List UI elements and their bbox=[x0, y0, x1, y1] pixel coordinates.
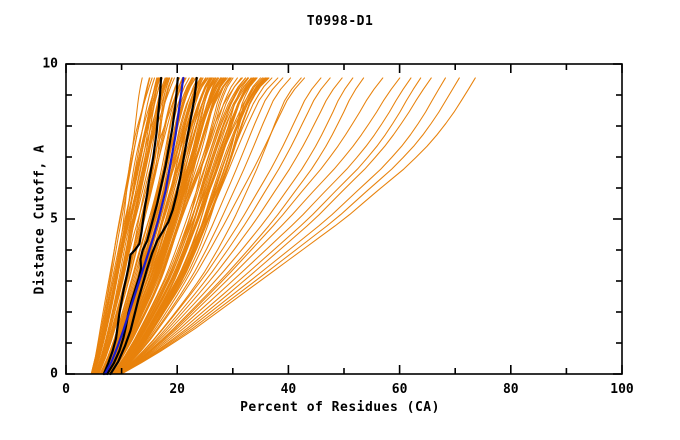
y-tick-label: 0 bbox=[32, 367, 58, 382]
chart-figure: T0998-D1 Distance Cutoff, A Percent of R… bbox=[0, 0, 680, 440]
x-tick-label: 80 bbox=[503, 382, 519, 397]
x-tick-label: 40 bbox=[281, 382, 297, 397]
y-tick-label: 10 bbox=[32, 57, 58, 72]
y-tick-label: 5 bbox=[32, 212, 58, 227]
plot-canvas bbox=[0, 0, 680, 440]
x-axis-label: Percent of Residues (CA) bbox=[0, 400, 680, 415]
x-tick-label: 100 bbox=[610, 382, 633, 397]
x-tick-label: 0 bbox=[62, 382, 70, 397]
x-tick-label: 60 bbox=[392, 382, 408, 397]
x-tick-label: 20 bbox=[169, 382, 185, 397]
